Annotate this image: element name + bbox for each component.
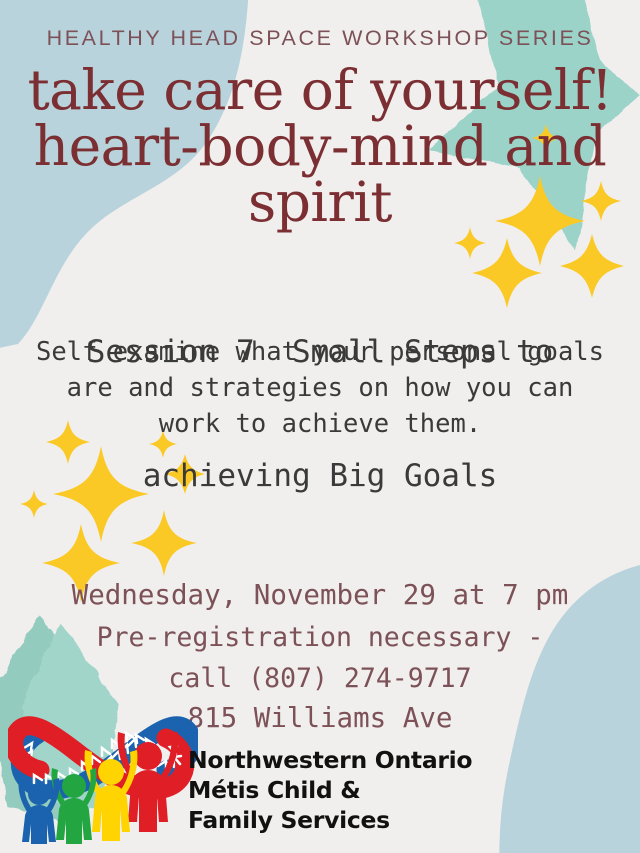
event-datetime: Wednesday, November 29 at 7 pm (0, 575, 640, 616)
org-line-1: Northwestern Ontario (188, 746, 472, 776)
poster-kicker: HEALTHY HEAD SPACE WORKSHOP SERIES (0, 26, 640, 51)
poster-canvas: HEALTHY HEAD SPACE WORKSHOP SERIES take … (0, 0, 640, 853)
organization-name: Northwestern Ontario Métis Child & Famil… (188, 746, 472, 836)
description-line-1: Self examine what your personal goals (0, 334, 640, 370)
organization-logo (8, 676, 198, 844)
metis-infinity-logo (8, 676, 198, 844)
poster-content: HEALTHY HEAD SPACE WORKSHOP SERIES take … (0, 0, 640, 853)
session-description: Self examine what your personal goals ar… (0, 334, 640, 443)
description-line-2: are and strategies on how you can (0, 370, 640, 406)
org-line-3: Family Services (188, 806, 472, 836)
figure-group (18, 732, 178, 844)
registration-line-1: Pre-registration necessary - (0, 617, 640, 658)
org-line-2: Métis Child & (188, 776, 472, 806)
description-line-3: work to achieve them. (0, 406, 640, 442)
headline-line-2: heart-body-mind and (14, 118, 626, 174)
poster-headline: take care of yourself! heart-body-mind a… (0, 62, 640, 230)
headline-line-1: take care of yourself! (14, 62, 626, 118)
headline-line-3: spirit (14, 174, 626, 230)
